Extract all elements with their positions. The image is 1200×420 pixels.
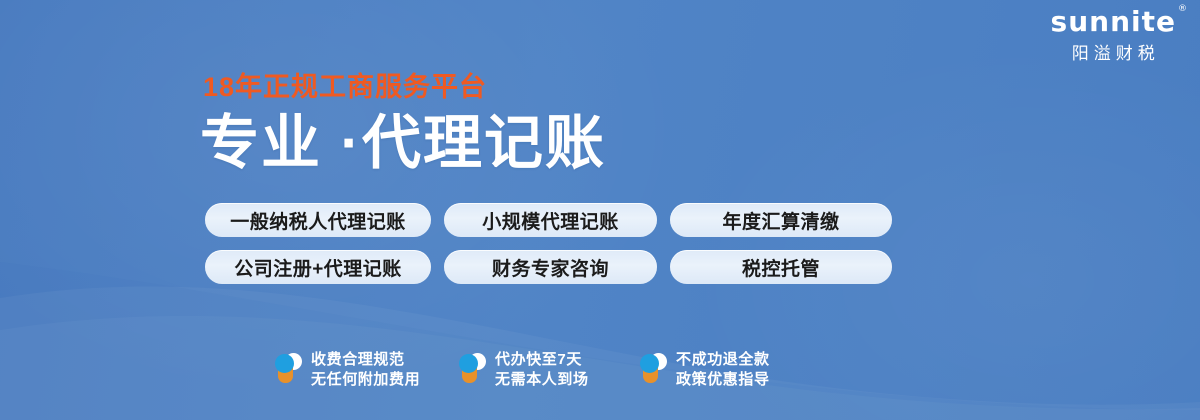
feature-text: 收费合理规范 无任何附加费用 xyxy=(311,352,420,388)
feature-text: 不成功退全款 政策优惠指导 xyxy=(676,352,770,388)
feature-line-2: 无任何附加费用 xyxy=(311,372,420,388)
feature-line-1: 不成功退全款 xyxy=(676,352,770,368)
half-moon-icon xyxy=(275,352,302,387)
brand-logo[interactable]: sunnite ® 阳溢财税 xyxy=(1051,8,1176,62)
promo-banner: sunnite ® 阳溢财税 18年正规工商服务平台 专业 ·代理记账 一般纳税… xyxy=(0,0,1200,420)
service-pill-row: 一般纳税人代理记账 小规模代理记账 年度汇算清缴 xyxy=(205,203,892,237)
feature-line-2: 无需本人到场 xyxy=(495,372,589,388)
service-pill-row: 公司注册+代理记账 财务专家咨询 税控托管 xyxy=(205,250,892,284)
feature-line-2: 政策优惠指导 xyxy=(676,372,770,388)
logo-wordmark-text: sunnite xyxy=(1051,5,1176,38)
half-moon-icon xyxy=(640,352,667,387)
feature-strip: 收费合理规范 无任何附加费用 代办快至7天 无需本人到场 不成功退全款 xyxy=(275,352,840,388)
logo-wordmark: sunnite ® xyxy=(1051,8,1176,36)
service-pill-small-scale[interactable]: 小规模代理记账 xyxy=(444,203,657,237)
feature-item-pricing: 收费合理规范 无任何附加费用 xyxy=(275,352,459,388)
hero-headline: 专业 ·代理记账 xyxy=(200,112,606,176)
registered-trademark-icon: ® xyxy=(1178,5,1188,14)
hero-eyebrow: 18年正规工商服务平台 xyxy=(203,74,487,101)
feature-item-speed: 代办快至7天 无需本人到场 xyxy=(459,352,640,388)
feature-item-refund: 不成功退全款 政策优惠指导 xyxy=(640,352,840,388)
background-wave-decoration xyxy=(0,260,1200,420)
feature-line-1: 收费合理规范 xyxy=(311,352,420,368)
service-pill-company-registration[interactable]: 公司注册+代理记账 xyxy=(205,250,431,284)
service-pill-tax-control-hosting[interactable]: 税控托管 xyxy=(670,250,892,284)
half-moon-icon xyxy=(459,352,486,387)
feature-text: 代办快至7天 无需本人到场 xyxy=(495,352,589,388)
service-pill-general-taxpayer[interactable]: 一般纳税人代理记账 xyxy=(205,203,431,237)
service-pill-grid: 一般纳税人代理记账 小规模代理记账 年度汇算清缴 公司注册+代理记账 财务专家咨… xyxy=(205,203,892,284)
feature-line-1: 代办快至7天 xyxy=(495,352,589,368)
service-pill-finance-consulting[interactable]: 财务专家咨询 xyxy=(444,250,657,284)
service-pill-annual-settlement[interactable]: 年度汇算清缴 xyxy=(670,203,892,237)
logo-chinese-name: 阳溢财税 xyxy=(1051,45,1176,62)
